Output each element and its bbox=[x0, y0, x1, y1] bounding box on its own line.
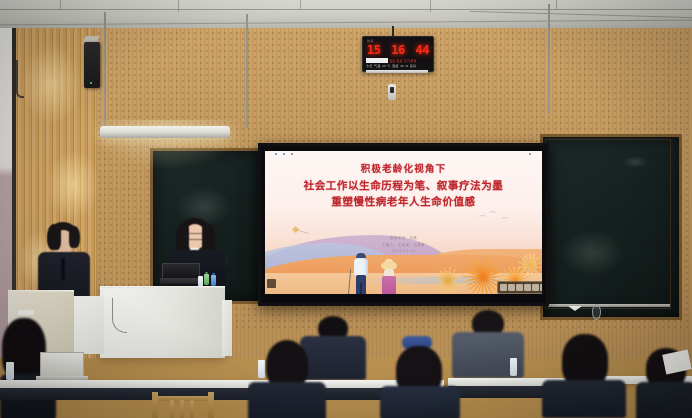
chalk-tray bbox=[548, 304, 670, 307]
led-wall-clock: 时间 15 16 44 温度 湿度 空气质量 今日 气温 25 ℃ 湿度 45 … bbox=[362, 36, 434, 72]
hanging-ring bbox=[592, 304, 601, 320]
jacket bbox=[636, 382, 692, 418]
audience-member-2 bbox=[248, 340, 326, 418]
clock-base-trim bbox=[366, 70, 428, 73]
water-bottle[interactable] bbox=[6, 362, 14, 380]
ceiling-suspension-rod bbox=[548, 4, 550, 114]
water-bottle[interactable] bbox=[204, 274, 209, 285]
lectern-center-panel bbox=[72, 296, 104, 354]
wooden-chair-slat bbox=[190, 400, 194, 418]
leg-gap bbox=[360, 283, 362, 294]
shirt bbox=[354, 258, 368, 276]
presenter-right bbox=[158, 218, 234, 296]
slide-subtitle-block: 指导老师：刘某 汇报人：王某某、吕某某 2023.11.23 bbox=[265, 235, 542, 255]
clock-minutes: 16 bbox=[391, 43, 404, 57]
audience-member-3 bbox=[376, 338, 462, 418]
wall-speaker-icon bbox=[84, 42, 100, 88]
slide-figure-elderly-man bbox=[353, 253, 369, 294]
jacket bbox=[380, 386, 460, 418]
clock-secondary-row: 温度 湿度 空气质量 bbox=[366, 58, 430, 63]
ceiling-grid-line bbox=[300, 0, 301, 10]
hair-side bbox=[69, 226, 80, 248]
slide-title-block: 积极老龄化视角下 社会工作以生命历程为笔、叙事疗法为墨 重塑慢性病老年人生命价值… bbox=[265, 163, 542, 210]
lectern-label bbox=[18, 310, 34, 315]
slide-title-line-1: 积极老龄化视角下 bbox=[265, 163, 542, 178]
ceiling-grid-line bbox=[556, 0, 557, 10]
ppt-toolbar[interactable] bbox=[497, 281, 542, 294]
audience-member-5 bbox=[540, 334, 626, 418]
ppt-pen-icon[interactable] bbox=[500, 284, 507, 291]
water-bottle[interactable] bbox=[211, 275, 216, 286]
bottle-cap bbox=[212, 273, 215, 275]
ppt-slide-icon[interactable] bbox=[540, 284, 542, 291]
ppt-menu-icon[interactable] bbox=[267, 279, 276, 288]
ppt-eraser-icon[interactable] bbox=[516, 284, 523, 291]
slide-figure-elderly-woman bbox=[381, 261, 397, 294]
clock-time-display: 15 16 44 bbox=[367, 43, 429, 57]
taskbar-icon[interactable] bbox=[283, 153, 285, 155]
ceiling-grid-line bbox=[60, 0, 61, 10]
hair-ponytail bbox=[266, 340, 308, 388]
clock-mini-label: 温度 湿度 空气质量 bbox=[389, 59, 417, 63]
bird-icon bbox=[479, 215, 486, 220]
bottle-cap bbox=[205, 272, 208, 274]
skirt bbox=[382, 276, 396, 294]
pendant-light-fixture bbox=[100, 126, 230, 138]
clock-seconds: 44 bbox=[416, 43, 429, 57]
hair-side bbox=[47, 224, 61, 250]
clock-info-row: 今日 气温 25 ℃ 湿度 45 % 良好 bbox=[366, 64, 430, 68]
ceiling-suspension-rod bbox=[104, 12, 106, 128]
ceiling-grid-line bbox=[178, 0, 179, 12]
wooden-chair-slat bbox=[180, 400, 184, 418]
clock-hours: 15 bbox=[367, 43, 380, 57]
taskbar-icon[interactable] bbox=[291, 153, 293, 155]
gooseneck-microphone bbox=[112, 298, 127, 333]
wooden-chair-slat bbox=[170, 400, 174, 418]
chalkboard-inner-frame bbox=[545, 139, 671, 309]
jacket bbox=[542, 380, 626, 418]
interactive-smart-board[interactable]: 积极老龄化视角下 社会工作以生命历程为笔、叙事疗法为墨 重塑慢性病老年人生命价值… bbox=[258, 143, 549, 306]
wall-hook-icon bbox=[16, 60, 24, 98]
slide-title-line-3: 重塑慢性病老年人生命价值感 bbox=[265, 194, 542, 210]
ppt-highlighter-icon[interactable] bbox=[508, 284, 515, 291]
speaker-power-led bbox=[90, 82, 92, 84]
slide-subtitle-date: 2023.11.23 bbox=[265, 248, 542, 255]
bird-icon bbox=[489, 211, 496, 216]
ppt-zoom-icon[interactable] bbox=[532, 284, 539, 291]
slide-subtitle-presenters: 汇报人：王某某、吕某某 bbox=[265, 242, 542, 249]
taskbar-icon[interactable] bbox=[529, 153, 531, 155]
ceiling-grid-line bbox=[0, 9, 692, 10]
front-desk-left bbox=[0, 380, 248, 388]
slide-title-line-2: 社会工作以生命历程为笔、叙事疗法为墨 bbox=[265, 178, 542, 194]
wooden-chair-leg bbox=[208, 392, 214, 418]
wheat-icon bbox=[433, 265, 463, 294]
bird-icon bbox=[501, 217, 508, 222]
ceiling-suspension-rod bbox=[246, 14, 248, 128]
classroom-scene: 时间 15 16 44 温度 湿度 空气质量 今日 气温 25 ℃ 湿度 45 … bbox=[0, 0, 692, 418]
presenter-laptop-keyboard[interactable] bbox=[160, 278, 200, 284]
kite-string bbox=[295, 229, 309, 234]
motion-sensor-lens-icon bbox=[390, 87, 394, 93]
lectern-right-panel bbox=[222, 300, 232, 356]
ceiling-grid-line bbox=[430, 0, 431, 12]
slide-subtitle-advisor: 指导老师：刘某 bbox=[265, 235, 542, 242]
jacket bbox=[248, 382, 326, 418]
taskbar-icon[interactable] bbox=[275, 153, 277, 155]
water-bottle[interactable] bbox=[510, 358, 517, 376]
necktie bbox=[61, 258, 65, 280]
clock-white-block bbox=[366, 58, 388, 63]
ppt-pointer-icon[interactable] bbox=[524, 284, 531, 291]
slide-canvas: 积极老龄化视角下 社会工作以生命历程为笔、叙事疗法为墨 重塑慢性病老年人生命价值… bbox=[265, 151, 542, 294]
